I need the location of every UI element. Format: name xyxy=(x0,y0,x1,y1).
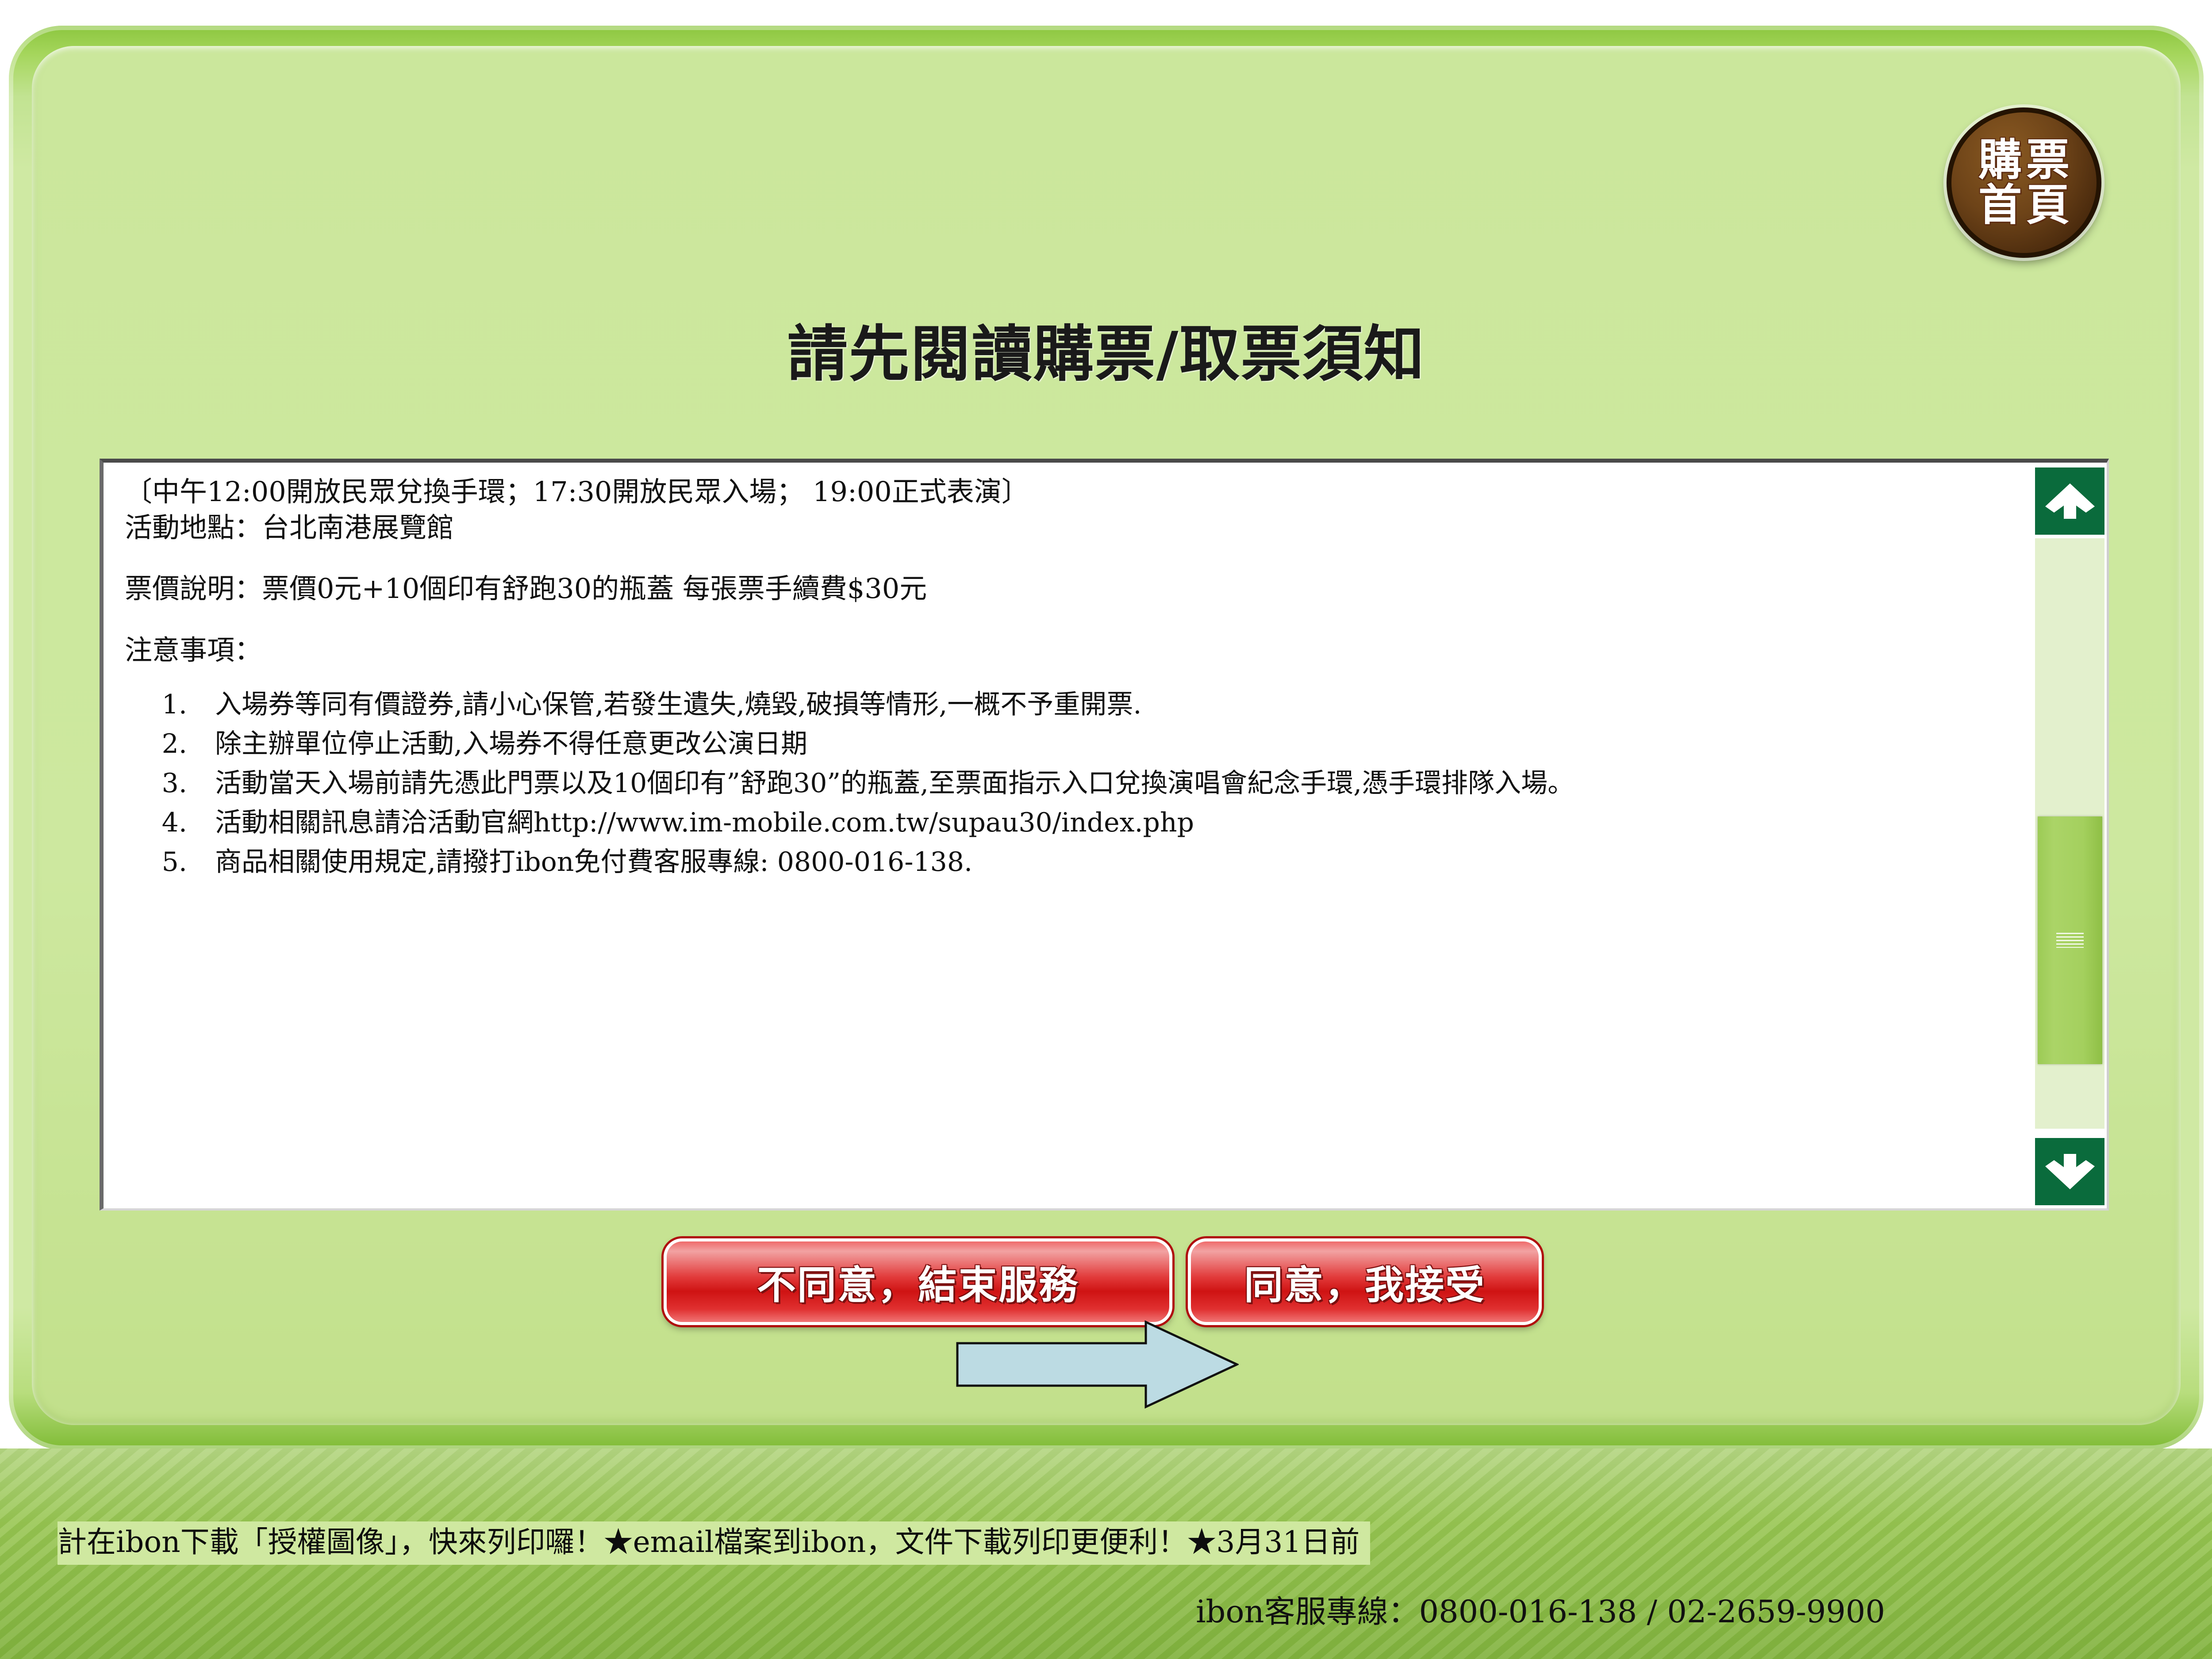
home-button-char-3: 首 xyxy=(1978,184,2022,227)
accept-button-label: 同意，我接受 xyxy=(1244,1254,1486,1310)
notice-scrollbar[interactable] xyxy=(2023,465,2104,1208)
spacer-3 xyxy=(125,668,2023,687)
home-button[interactable]: 購 票 首 頁 xyxy=(1947,107,2101,258)
decline-button-label: 不同意，結束服務 xyxy=(757,1254,1079,1310)
scrollbar-thumb[interactable] xyxy=(2038,816,2102,1064)
notice-item: 活動相關訊息請洽活動官網http://www.im-mobile.com.tw/… xyxy=(196,805,2023,840)
notice-item: 商品相關使用規定,請撥打ibon免付費客服專線: 0800-016-138. xyxy=(196,845,2023,879)
spacer-2 xyxy=(125,607,2023,632)
accept-button[interactable]: 同意，我接受 xyxy=(1188,1238,1542,1325)
notice-panel: 〔中午12:00開放民眾兌換手環；17:30開放民眾入場； 19:00正式表演〕… xyxy=(100,459,2109,1211)
scroll-up-arrow-icon xyxy=(2043,481,2097,521)
promo-ticker: 計在ibon下載「授權圖像」，快來列印囉！★email檔案到ibon，文件下載列… xyxy=(58,1521,1370,1565)
home-button-char-1: 購 xyxy=(1978,138,2022,182)
scrollbar-thumb-grip-icon xyxy=(2056,933,2084,948)
right-pointing-arrow-icon xyxy=(956,1320,1239,1409)
notice-line-venue: 活動地點：台北南港展覽館 xyxy=(125,510,2023,546)
notice-item: 入場券等同有價證券,請小心保管,若發生遺失,燒毀,破損等情形,一概不予重開票. xyxy=(196,687,2023,722)
scroll-up-button[interactable] xyxy=(2035,467,2104,535)
notice-text-body: 〔中午12:00開放民眾兌換手環；17:30開放民眾入場； 19:00正式表演〕… xyxy=(125,474,2023,884)
home-button-label-grid: 購 票 首 頁 xyxy=(1978,138,2070,227)
spacer-1 xyxy=(125,545,2023,571)
kiosk-screen: 購 票 首 頁 請先閱讀購票/取票須知 〔中午12:00開放民眾兌換手環；17:… xyxy=(0,0,2212,1659)
footer-service-phone: ibon客服專線：0800-016-138 / 02-2659-9900 xyxy=(0,1587,2212,1632)
decline-button[interactable]: 不同意，結束服務 xyxy=(664,1238,1172,1325)
notice-items-list: 入場券等同有價證券,請小心保管,若發生遺失,燒毀,破損等情形,一概不予重開票. … xyxy=(125,687,2023,879)
notice-item: 活動當天入場前請先憑此門票以及10個印有”舒跑30”的瓶蓋,至票面指示入口兌換演… xyxy=(196,766,2023,801)
action-button-row: 不同意，結束服務 同意，我接受 xyxy=(593,1238,1610,1331)
home-button-char-2: 票 xyxy=(2026,138,2070,182)
scroll-down-arrow-icon xyxy=(2043,1151,2097,1192)
page-title: 請先閱讀購票/取票須知 xyxy=(0,305,2212,393)
home-button-char-4: 頁 xyxy=(2026,184,2070,227)
notice-item: 除主辦單位停止活動,入場券不得任意更改公演日期 xyxy=(196,727,2023,761)
notice-line-time: 〔中午12:00開放民眾兌換手環；17:30開放民眾入場； 19:00正式表演〕 xyxy=(125,474,2023,510)
scroll-down-button[interactable] xyxy=(2035,1138,2104,1205)
notice-notes-heading: 注意事項： xyxy=(125,632,2023,668)
notice-line-price: 票價說明：票價0元+10個印有舒跑30的瓶蓋 每張票手續費$30元 xyxy=(125,571,2023,607)
